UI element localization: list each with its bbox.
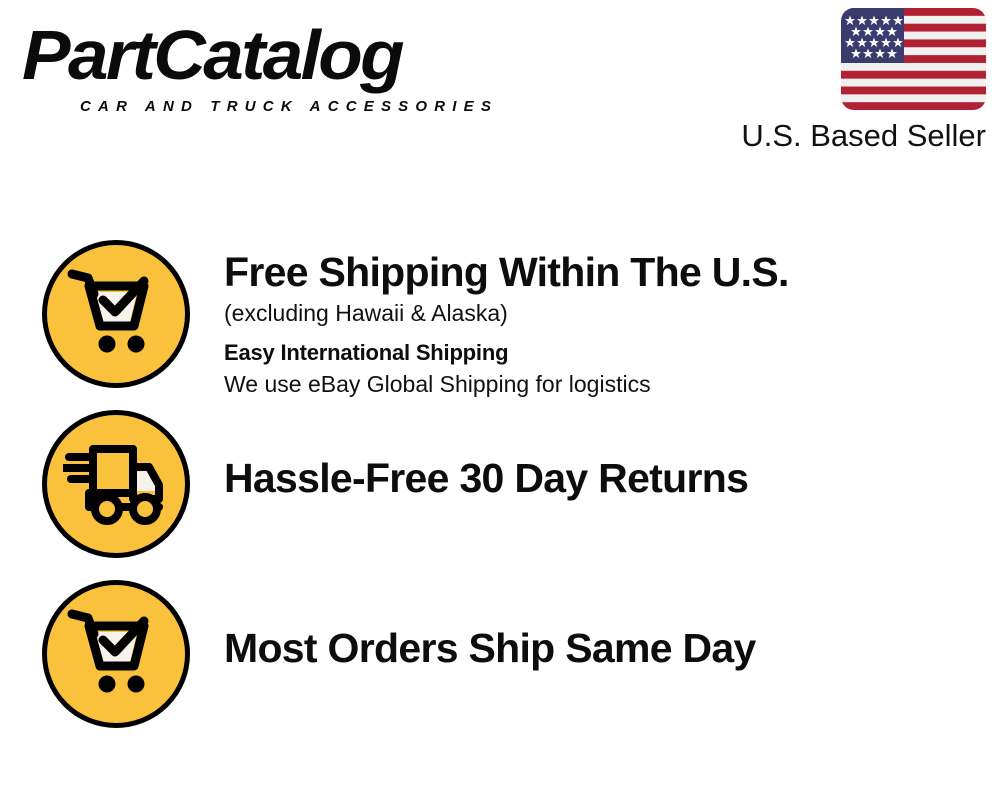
feature-subtitle: (excluding Hawaii & Alaska)	[224, 296, 1000, 330]
brand-logo: PartCatalog CAR AND TRUCK ACCESSORIES	[22, 18, 492, 118]
feature-text-block: Free Shipping Within The U.S. (excluding…	[224, 240, 1000, 400]
seller-info-banner: PartCatalog CAR AND TRUCK ACCESSORIES	[0, 0, 1000, 800]
us-flag-icon	[841, 8, 986, 110]
delivery-truck-icon	[42, 410, 190, 558]
feature-list: Free Shipping Within The U.S. (excluding…	[0, 230, 1000, 760]
us-based-seller-label: U.S. Based Seller	[706, 117, 986, 155]
banner-header: PartCatalog CAR AND TRUCK ACCESSORIES	[0, 0, 1000, 170]
shopping-cart-check-icon	[42, 240, 190, 388]
feature-secondary-note: We use eBay Global Shipping for logistic…	[224, 368, 1000, 400]
feature-title: Free Shipping Within The U.S.	[224, 248, 1000, 296]
feature-row: Free Shipping Within The U.S. (excluding…	[0, 240, 1000, 410]
feature-row: Most Orders Ship Same Day	[0, 580, 1000, 750]
feature-title: Most Orders Ship Same Day	[224, 624, 1000, 672]
feature-text-block: Hassle-Free 30 Day Returns	[224, 410, 1000, 502]
feature-text-block: Most Orders Ship Same Day	[224, 580, 1000, 672]
shopping-cart-check-icon	[42, 580, 190, 728]
us-based-seller-block: U.S. Based Seller	[706, 8, 986, 155]
brand-wordmark: PartCatalog	[22, 18, 511, 92]
feature-row: Hassle-Free 30 Day Returns	[0, 410, 1000, 580]
brand-tagline: CAR AND TRUCK ACCESSORIES	[80, 98, 498, 115]
feature-title: Hassle-Free 30 Day Returns	[224, 454, 1000, 502]
feature-secondary-title: Easy International Shipping	[224, 338, 1000, 368]
